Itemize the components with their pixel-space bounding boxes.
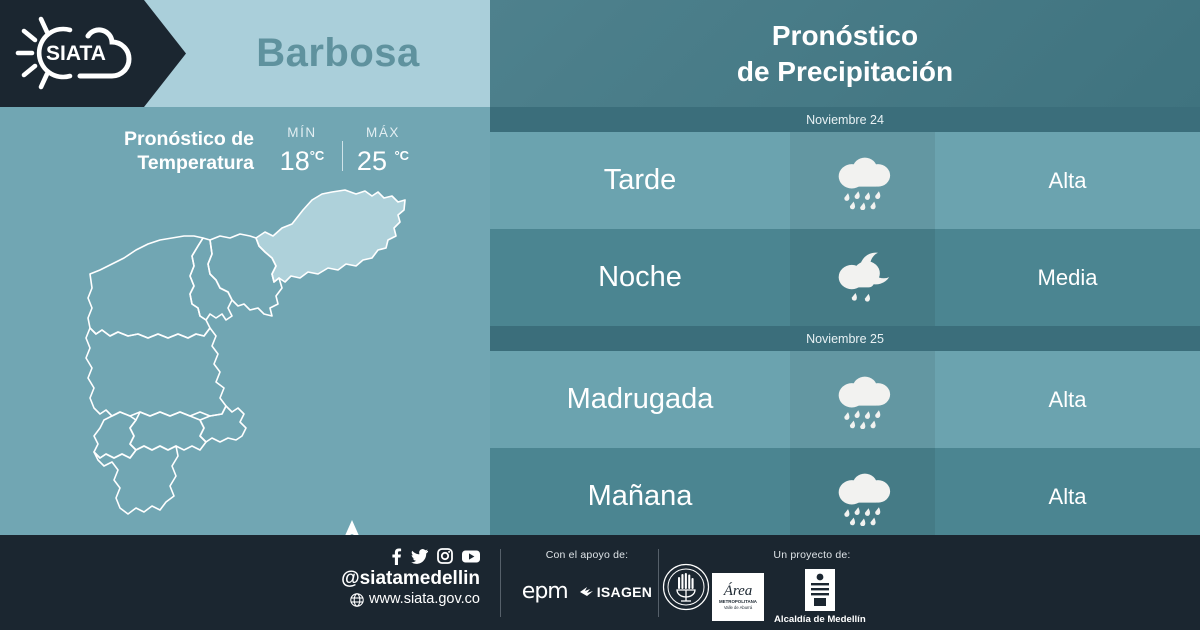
website-url: www.siata.gov.co <box>369 590 480 609</box>
alcaldia-logo: Alcaldía de Medellín <box>774 569 866 625</box>
map-region-caldas <box>94 446 178 514</box>
footer-divider-1 <box>500 549 501 617</box>
map-svg <box>60 188 440 528</box>
weather-forecast-infographic: SIATA Barbosa Pronóstico de Temperatura … <box>0 0 1200 630</box>
rain-cloud-icon <box>790 351 935 448</box>
epm-logo: epm <box>522 579 568 604</box>
footer-bar: @siatamedellin www.siata.gov.co Con el a… <box>0 535 1200 630</box>
temperature-max-label: MÁX <box>349 124 417 141</box>
forecast-probability: Alta <box>935 448 1200 545</box>
rain-cloud-icon-svg <box>829 371 897 429</box>
rain-cloud-moon-icon <box>790 229 935 326</box>
forecast-probability: Alta <box>935 351 1200 448</box>
map-region-la-estrella <box>94 412 136 458</box>
temperature-min: MÍN 18°C <box>268 124 336 176</box>
valle-de-aburra-map: N <box>60 188 440 528</box>
forecast-row[interactable]: Noche Media <box>490 229 1200 326</box>
rain-cloud-icon-svg <box>829 152 897 210</box>
forecast-period: Mañana <box>490 448 790 545</box>
map-region-itagui <box>130 412 206 450</box>
temperature-divider <box>342 141 343 171</box>
area-metropolitana-logo: Área METROPOLITANA Valle de Aburrá <box>712 573 764 621</box>
alcaldia-shield-icon <box>805 569 835 611</box>
rain-cloud-icon <box>790 132 935 229</box>
siata-logo-badge: SIATA <box>0 0 186 107</box>
rain-cloud-moon-icon-svg <box>829 249 897 307</box>
social-handle[interactable]: @siatamedellin <box>300 567 480 590</box>
footer-divider-2 <box>658 549 659 617</box>
forecast-row[interactable]: Tarde <box>490 132 1200 229</box>
precipitation-panel: Pronóstico de Precipitación Noviembre 24… <box>490 0 1200 535</box>
left-header-bar: SIATA Barbosa <box>0 0 490 107</box>
project-block: Un proyecto de: Área METROPOLITANA Valle… <box>712 549 912 625</box>
social-icons <box>300 547 480 565</box>
temperature-max-value: 25 °C <box>349 141 417 176</box>
temperature-title: Pronóstico de Temperatura <box>86 124 254 175</box>
forecast-probability: Alta <box>935 132 1200 229</box>
left-panel: SIATA Barbosa Pronóstico de Temperatura … <box>0 0 490 535</box>
siata-sun-cloud-logo-icon: SIATA <box>14 14 138 92</box>
forecast-row[interactable]: Mañana <box>490 448 1200 545</box>
instagram-icon[interactable] <box>437 548 453 564</box>
temperature-title-line2: Temperatura <box>86 151 254 175</box>
temperature-max: MÁX 25 °C <box>349 124 417 176</box>
isagen-logo: ISAGEN <box>580 584 652 600</box>
youtube-icon[interactable] <box>462 550 480 563</box>
isagen-text: ISAGEN <box>597 584 652 600</box>
website-line[interactable]: www.siata.gov.co <box>300 590 480 609</box>
forecast-row[interactable]: Madrugada <box>490 351 1200 448</box>
temperature-min-value: 18°C <box>268 141 336 176</box>
map-region-envigado <box>200 406 246 442</box>
area-logo-script: Área <box>724 584 753 599</box>
date-band: Noviembre 24 <box>490 107 1200 132</box>
temperature-title-line1: Pronóstico de <box>86 127 254 151</box>
support-caption: Con el apoyo de: <box>512 549 662 561</box>
temperature-max-number: 25 <box>357 146 387 176</box>
project-logos: Área METROPOLITANA Valle de Aburrá <box>712 569 912 625</box>
rain-cloud-icon <box>790 448 935 545</box>
map-region-barbosa <box>256 190 405 282</box>
map-region-bello <box>88 236 210 338</box>
temperature-summary: Pronóstico de Temperatura MÍN 18°C MÁX 2… <box>86 124 426 182</box>
project-caption: Un proyecto de: <box>712 549 912 561</box>
temperature-min-unit: °C <box>310 148 325 163</box>
temperature-max-unit: °C <box>394 148 409 163</box>
map-region-medellin <box>86 328 226 416</box>
forecast-period: Tarde <box>490 132 790 229</box>
social-block: @siatamedellin www.siata.gov.co <box>300 547 480 609</box>
forecast-probability: Media <box>935 229 1200 326</box>
forecast-period: Noche <box>490 229 790 326</box>
alcaldia-label: Alcaldía de Medellín <box>774 614 866 625</box>
facebook-icon[interactable] <box>391 548 402 565</box>
support-block: Con el apoyo de: epm ISAGEN <box>512 549 662 604</box>
precipitation-header: Pronóstico de Precipitación <box>490 0 1200 107</box>
twitter-icon[interactable] <box>411 549 428 564</box>
area-logo-line3: Valle de Aburrá <box>724 605 752 610</box>
isagen-mark-icon <box>580 585 594 598</box>
precipitation-title-line1: Pronóstico <box>772 18 918 54</box>
forecast-rows: Noviembre 24 Tarde <box>490 107 1200 545</box>
forecast-period: Madrugada <box>490 351 790 448</box>
city-title: Barbosa <box>186 0 490 107</box>
temperature-min-label: MÍN <box>268 124 336 141</box>
temperature-values: MÍN 18°C MÁX 25 °C <box>268 124 417 176</box>
universidad-de-antioquia-seal-icon <box>662 563 710 611</box>
date-band: Noviembre 25 <box>490 326 1200 351</box>
precipitation-title-line2: de Precipitación <box>737 54 953 90</box>
siata-logo-text: SIATA <box>46 42 106 65</box>
support-logos: epm ISAGEN <box>512 579 662 604</box>
globe-icon <box>350 593 364 607</box>
temperature-min-number: 18 <box>280 146 310 176</box>
rain-cloud-icon-svg <box>829 468 897 526</box>
